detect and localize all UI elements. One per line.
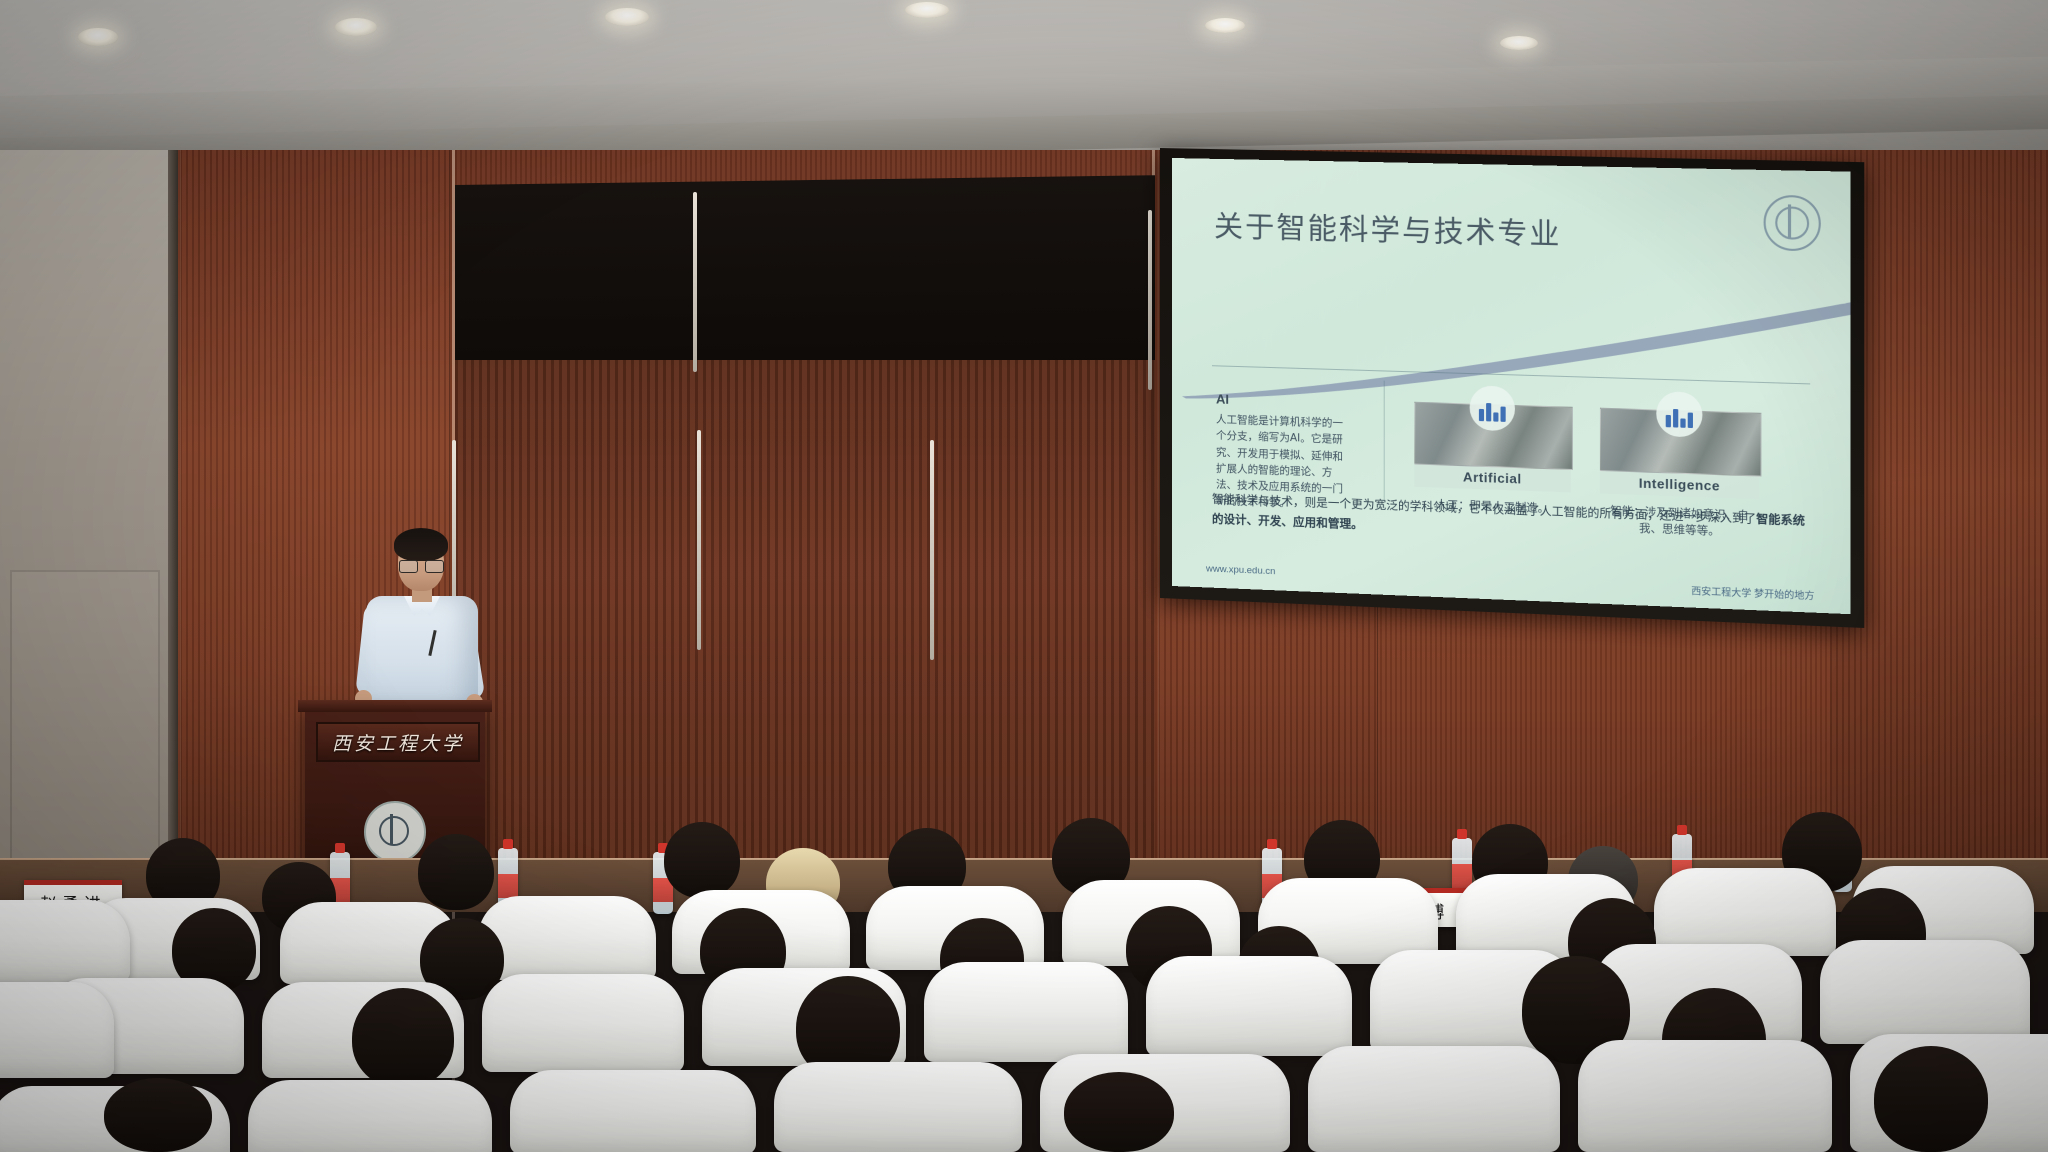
lectern-top (298, 700, 492, 712)
auditorium-seat (1308, 1046, 1560, 1152)
lectern-nameplate-text: 西安工程大学 (332, 729, 464, 756)
audience-head (352, 988, 454, 1088)
auditorium-seat (0, 900, 130, 982)
auditorium-seat (478, 896, 656, 980)
card-intelligence: Intelligence 智能：涉及到诸如意识、自我、思维等等。 (1600, 408, 1759, 500)
auditorium-seat (510, 1070, 756, 1152)
lectern-nameplate: 西安工程大学 (316, 722, 480, 762)
slide-title: 关于智能科学与技术专业 (1214, 203, 1562, 254)
auditorium-seat (924, 962, 1128, 1062)
auditorium-seat (0, 982, 114, 1078)
wall-inset-panel (10, 570, 160, 870)
presenter-hair (394, 528, 448, 561)
university-seal-icon (364, 801, 426, 863)
card-label: Intelligence (1600, 471, 1759, 499)
footer-slogan: 西安工程大学 梦开始的地方 (1691, 583, 1814, 602)
eyeglasses-icon (399, 560, 444, 571)
left-wall-column (0, 150, 176, 890)
wood-curtain-wall (455, 360, 1155, 880)
audience-head (1064, 1072, 1174, 1152)
card-label: Artificial (1414, 464, 1571, 492)
ai-heading: AI (1216, 391, 1229, 406)
audience-head (664, 822, 740, 898)
university-seal-icon (1764, 195, 1821, 252)
projection-screen[interactable]: 关于智能科学与技术专业 AI 人工智能是计算机科学的一个分支，缩写为AI。它是研… (1172, 158, 1851, 614)
bar-chart-badge-icon (1470, 385, 1515, 431)
footer-url: www.xpu.edu.cn (1206, 563, 1275, 580)
auditorium-seat (482, 974, 684, 1072)
presentation-slide: 关于智能科学与技术专业 AI 人工智能是计算机科学的一个分支，缩写为AI。它是研… (1172, 158, 1851, 614)
auditorium-seat (248, 1080, 492, 1152)
recessed-downlight-icon (605, 8, 649, 26)
dark-curtain-box (455, 175, 1155, 385)
auditorium-seat (774, 1062, 1022, 1152)
slide-divider-vertical (1384, 381, 1385, 500)
wall-column-edge (168, 150, 178, 890)
curtain-rod (930, 440, 934, 660)
auditorium-seat (1654, 868, 1836, 956)
curtain-rod (697, 430, 701, 650)
auditorium-seat (1578, 1040, 1832, 1152)
audience-head (1874, 1046, 1988, 1152)
recessed-downlight-icon (905, 2, 949, 18)
auditorium-seat (1146, 956, 1352, 1056)
lecture-hall-scene: 关于智能科学与技术专业 AI 人工智能是计算机科学的一个分支，缩写为AI。它是研… (0, 0, 2048, 1152)
bar-chart-badge-icon (1656, 391, 1702, 438)
audience-head (104, 1078, 212, 1152)
recessed-downlight-icon (1205, 18, 1245, 33)
recessed-downlight-icon (78, 28, 118, 46)
card-artificial: Artificial 人工：即是人工制造。 (1414, 402, 1571, 493)
presenter-torso (366, 596, 478, 716)
auditorium-seat (1820, 940, 2030, 1044)
audience-head (418, 834, 494, 910)
curtain-rod (693, 192, 697, 372)
recessed-downlight-icon (335, 18, 377, 36)
curtain-rod (1148, 210, 1152, 390)
recessed-downlight-icon (1500, 36, 1538, 50)
